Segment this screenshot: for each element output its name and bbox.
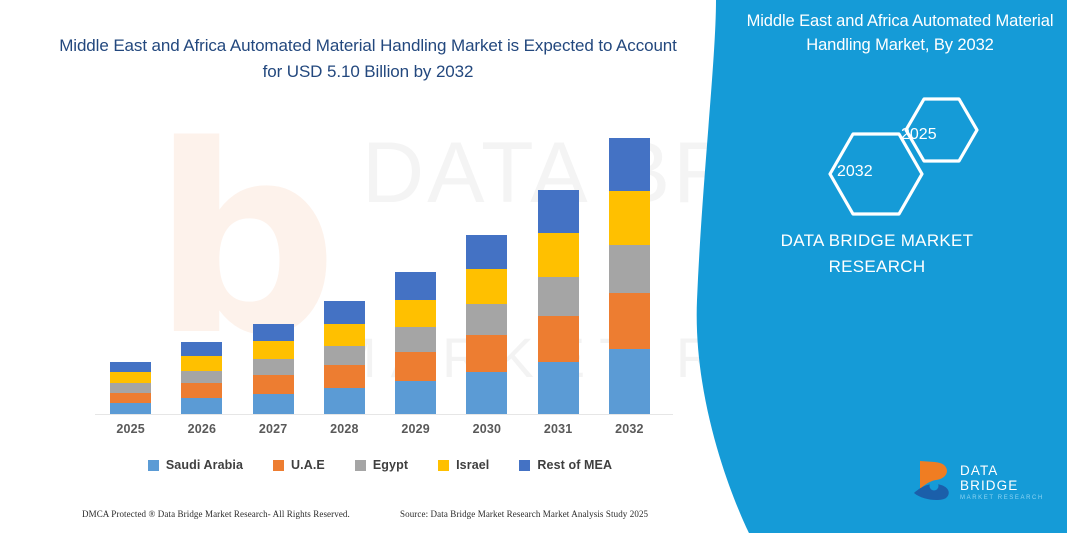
stacked-bar (253, 324, 294, 415)
plot-region (95, 120, 665, 415)
bar-segment (609, 245, 650, 293)
x-axis-tick-label: 2027 (238, 422, 309, 442)
hexagon-label-left: 2032 (837, 163, 873, 181)
x-axis-line (95, 414, 673, 415)
bar-segment (609, 138, 650, 191)
chart-legend: Saudi ArabiaU.A.EEgyptIsraelRest of MEA (95, 452, 665, 478)
legend-swatch-icon (273, 460, 284, 471)
bar-segment (110, 383, 151, 393)
dbmr-logo-text: DATA BRIDGE MARKET RESEARCH (960, 463, 1052, 503)
bar-segment (466, 372, 507, 415)
legend-swatch-icon (355, 460, 366, 471)
x-axis-tick-label: 2028 (309, 422, 380, 442)
bar-segment (395, 272, 436, 300)
stacked-bar (466, 235, 507, 415)
legend-item[interactable]: Rest of MEA (519, 458, 612, 472)
legend-label: Saudi Arabia (166, 458, 243, 472)
x-axis-tick-label: 2029 (380, 422, 451, 442)
hexagon-label-right: 2025 (901, 126, 937, 144)
stacked-bar (181, 342, 222, 415)
bar-segment (538, 233, 579, 277)
legend-item[interactable]: Egypt (355, 458, 408, 472)
bar-column (451, 120, 522, 415)
footer: DMCA Protected ® Data Bridge Market Rese… (0, 505, 712, 529)
bar-segment (253, 394, 294, 415)
stacked-bar (395, 272, 436, 415)
stacked-bar (609, 138, 650, 415)
bar-segment (395, 352, 436, 381)
bar-segment (253, 341, 294, 359)
bar-column (238, 120, 309, 415)
bar-segment (466, 235, 507, 270)
panel-content: Middle East and Africa Automated Materia… (687, 0, 1067, 533)
x-axis-tick-label: 2030 (451, 422, 522, 442)
bar-segment (324, 301, 365, 323)
bar-segment (609, 293, 650, 350)
bar-segment (538, 316, 579, 362)
brand-panel: Middle East and Africa Automated Materia… (687, 0, 1067, 533)
bar-segment (395, 327, 436, 352)
legend-label: Rest of MEA (537, 458, 612, 472)
legend-item[interactable]: U.A.E (273, 458, 325, 472)
bar-segment (253, 324, 294, 342)
bar-segment (324, 365, 365, 388)
dbmr-logo: DATA BRIDGE MARKET RESEARCH (912, 459, 1052, 501)
legend-label: U.A.E (291, 458, 325, 472)
x-axis-tick-label: 2032 (594, 422, 665, 442)
chart-area: b DATA BRIDGE MARKET RESEARCH Middle Eas… (0, 0, 712, 533)
legend-label: Israel (456, 458, 489, 472)
stacked-bar (538, 190, 579, 415)
bar-segment (181, 398, 222, 415)
brand-name: DATA BRIDGE MARKET RESEARCH (727, 228, 1027, 279)
brand-name-line1: DATA BRIDGE MARKET (727, 228, 1027, 254)
footer-copyright: DMCA Protected ® Data Bridge Market Rese… (82, 509, 350, 519)
bar-segment (466, 304, 507, 335)
bar-segment (395, 300, 436, 328)
brand-name-line2: RESEARCH (727, 254, 1027, 280)
bar-group (95, 120, 665, 415)
hexagon-badges (807, 92, 1007, 232)
x-axis-labels: 20252026202720282029203020312032 (95, 422, 665, 442)
bar-segment (466, 269, 507, 304)
footer-source: Source: Data Bridge Market Research Mark… (400, 509, 648, 519)
x-axis-tick-label: 2025 (95, 422, 166, 442)
legend-swatch-icon (438, 460, 449, 471)
dbmr-logo-line2: MARKET RESEARCH (960, 493, 1052, 503)
page-title: Middle East and Africa Automated Materia… (48, 33, 688, 86)
bar-column (95, 120, 166, 415)
bar-segment (538, 277, 579, 316)
stacked-bar (110, 362, 151, 415)
bar-segment (253, 375, 294, 394)
infographic-canvas: b DATA BRIDGE MARKET RESEARCH Middle Eas… (0, 0, 1067, 533)
legend-label: Egypt (373, 458, 408, 472)
bar-segment (395, 381, 436, 415)
bar-column (380, 120, 451, 415)
dbmr-logo-line1: DATA BRIDGE (960, 463, 1052, 493)
bar-segment (324, 324, 365, 346)
stacked-bar (324, 301, 365, 415)
bar-segment (324, 346, 365, 366)
legend-swatch-icon (148, 460, 159, 471)
bar-segment (538, 362, 579, 415)
legend-item[interactable]: Saudi Arabia (148, 458, 243, 472)
hexagon-shapes (807, 92, 1007, 232)
bar-segment (538, 190, 579, 234)
bar-column (166, 120, 237, 415)
bar-segment (181, 356, 222, 370)
bar-segment (324, 388, 365, 415)
bar-segment (466, 335, 507, 372)
dbmr-logo-icon (912, 459, 958, 501)
bar-column (594, 120, 665, 415)
bar-segment (181, 371, 222, 383)
legend-item[interactable]: Israel (438, 458, 489, 472)
bar-segment (181, 342, 222, 356)
bar-column (309, 120, 380, 415)
bar-segment (181, 383, 222, 398)
x-axis-tick-label: 2026 (166, 422, 237, 442)
bar-segment (110, 362, 151, 373)
bar-segment (110, 393, 151, 404)
x-axis-tick-label: 2031 (523, 422, 594, 442)
bar-column (523, 120, 594, 415)
bar-segment (110, 372, 151, 383)
bar-segment (609, 191, 650, 244)
bar-segment (609, 349, 650, 415)
panel-title: Middle East and Africa Automated Materia… (745, 10, 1055, 58)
bar-segment (253, 359, 294, 375)
legend-swatch-icon (519, 460, 530, 471)
